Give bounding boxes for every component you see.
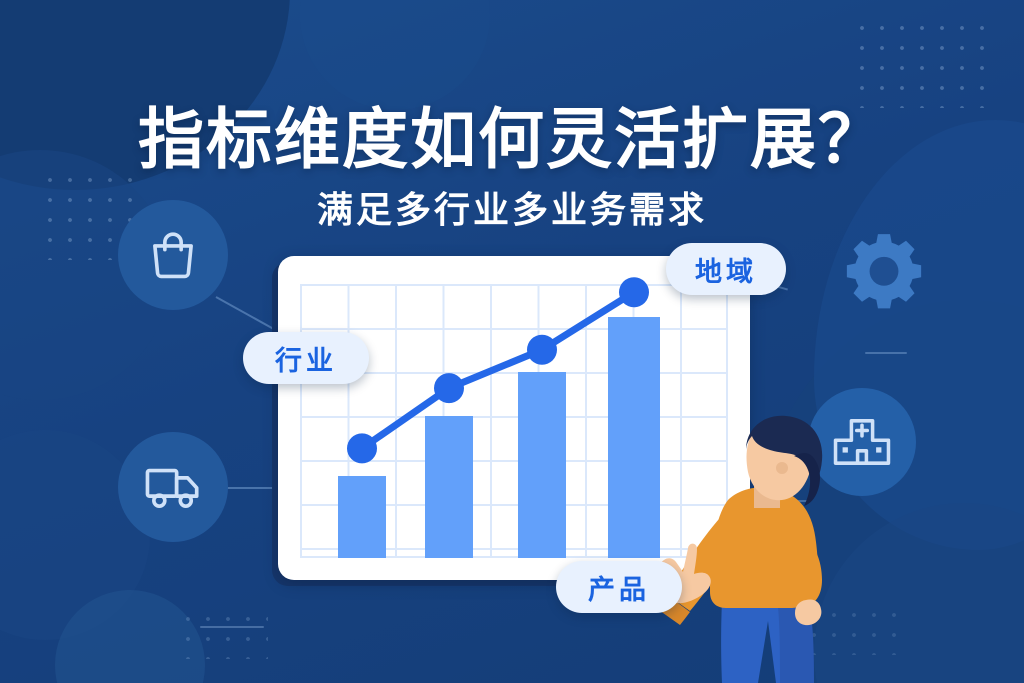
chart-point-1 xyxy=(347,433,377,463)
chart-point-2 xyxy=(434,373,464,403)
person-pointing-at-chart xyxy=(630,404,860,683)
chart-point-4 xyxy=(619,277,649,307)
decor-hairline-right-upper xyxy=(865,352,907,354)
chart-point-3 xyxy=(527,335,557,365)
pill-product[interactable]: 产品 xyxy=(556,561,682,613)
gear-icon xyxy=(838,228,930,320)
pill-product-label: 产品 xyxy=(588,568,650,607)
page-title: 指标维度如何灵活扩展？ xyxy=(0,106,1024,172)
pill-region-label: 地域 xyxy=(695,250,757,289)
pill-industry[interactable]: 行业 xyxy=(243,332,369,384)
shopping-bag-icon xyxy=(118,200,228,310)
delivery-truck-icon xyxy=(118,432,228,542)
pill-industry-label: 行业 xyxy=(275,339,337,378)
pill-region[interactable]: 地域 xyxy=(666,243,786,295)
decor-hairline-bottom xyxy=(200,626,264,628)
poster-canvas: 指标维度如何灵活扩展？ 满足多行业多业务需求 xyxy=(0,0,1024,683)
